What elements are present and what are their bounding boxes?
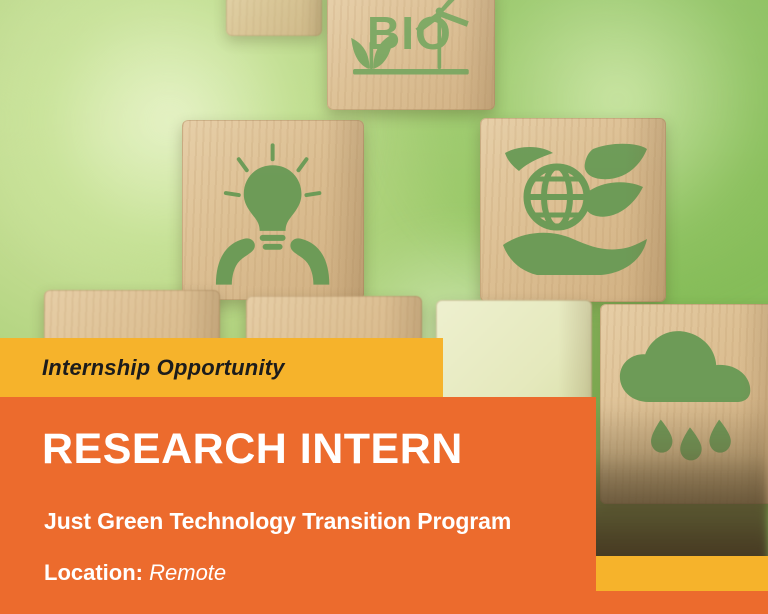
block-shadow (324, 120, 364, 300)
wooden-block-lightbulb (182, 120, 364, 300)
page-title: RESEARCH INTERN (42, 428, 463, 471)
wooden-block-partial (226, 0, 322, 36)
program-subtitle: Just Green Technology Transition Program (44, 508, 511, 535)
wooden-block-bio: BIO (327, 0, 495, 110)
block-shadow (301, 0, 322, 36)
location-label: Location: (44, 560, 143, 585)
headline-band-bottom-strip (0, 591, 768, 614)
block-shadow (625, 118, 666, 302)
headline-band-notch (596, 556, 768, 591)
kicker-band: Internship Opportunity (0, 338, 443, 397)
location-value: Remote (149, 560, 226, 585)
wooden-block-globe (480, 118, 666, 302)
location-line: Location: Remote (44, 560, 226, 586)
bio-block-label: BIO (367, 6, 452, 60)
kicker-text: Internship Opportunity (0, 355, 285, 381)
block-shadow (458, 0, 495, 110)
internship-poster: BIO (0, 0, 768, 614)
